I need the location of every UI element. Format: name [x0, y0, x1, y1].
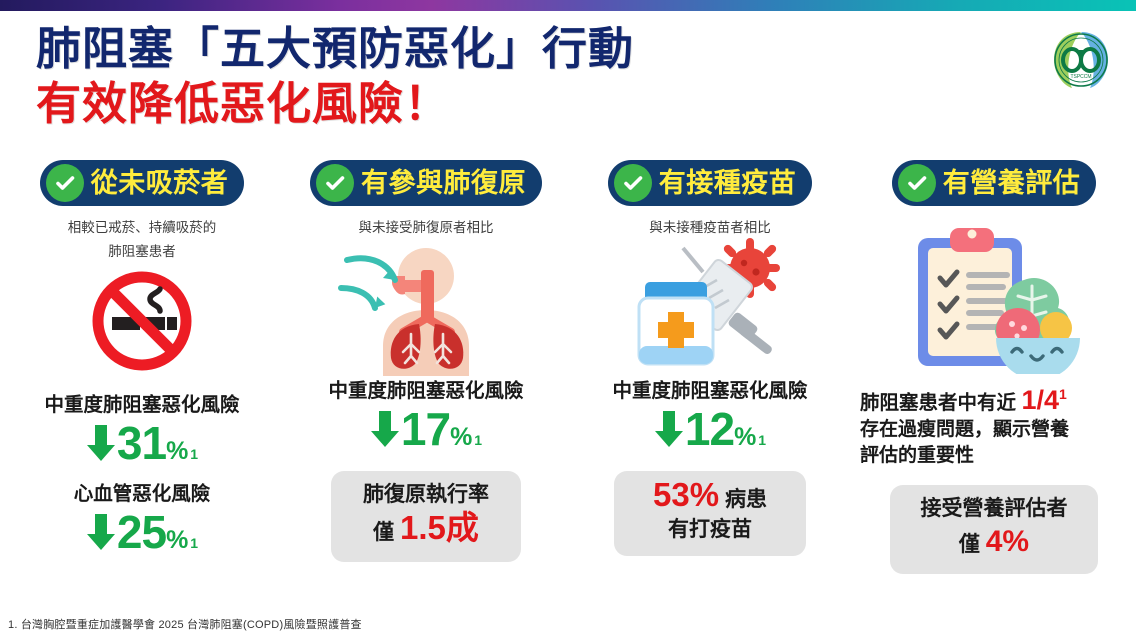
pill-never-smoker[interactable]: 從未吸菸者 — [40, 160, 245, 206]
stat-number: 17 — [401, 405, 450, 453]
callout-line-2: 僅 1.5成 — [343, 510, 509, 551]
columns-container: 從未吸菸者 相較已戒菸、持續吸菸的 肺阻塞患者 中重度肺阻塞惡化風險 31 — [0, 160, 1136, 600]
footnote: 1. 台灣胸腔暨重症加護醫學會 2025 台灣肺阻塞(COPD)風險暨照護普查 — [8, 616, 362, 632]
text-stat-prefix: 肺阻塞患者中有近 — [860, 392, 1016, 414]
page-title: 肺阻塞「五大預防惡化」行動 有效降低惡化風險！ — [36, 24, 634, 130]
stat-copd-exacerbation: 中重度肺阻塞惡化風險 17 % 1 — [284, 378, 568, 453]
down-arrow-icon — [370, 409, 400, 449]
stat-copd-exacerbation: 中重度肺阻塞惡化風險 31 % 1 — [0, 392, 284, 467]
stat-superscript: 1 — [758, 433, 766, 447]
stat-superscript: 1 — [190, 536, 198, 550]
callout-highlight: 53% — [653, 476, 719, 513]
stat-number: 12 — [685, 405, 734, 453]
callout-line-2: 有打疫苗 — [626, 515, 794, 545]
stat-value-row: 25 % 1 — [0, 508, 284, 556]
check-icon — [46, 164, 84, 202]
pill-pulmonary-rehab[interactable]: 有參與肺復原 — [310, 160, 542, 206]
stat-unit: % — [450, 422, 472, 452]
callout-highlight: 4% — [986, 525, 1029, 558]
top-gradient-bar — [0, 0, 1136, 11]
stat-underweight-text: 肺阻塞患者中有近 1/41 存在過瘦問題，顯示營養 評估的重要性 — [852, 380, 1136, 469]
callout-vaccination-rate: 53% 病患 有打疫苗 — [614, 471, 806, 556]
stat-label: 心血管惡化風險 — [0, 481, 284, 507]
stat-superscript: 1 — [190, 447, 198, 461]
callout-line-1: 肺復原執行率 — [343, 480, 509, 510]
breathing-lungs-icon — [284, 236, 568, 376]
down-arrow-icon — [654, 409, 684, 449]
stat-label: 中重度肺阻塞惡化風險 — [568, 378, 852, 404]
callout-highlight: 1.5成 — [400, 509, 479, 546]
pill-nutrition-assessment[interactable]: 有營養評估 — [892, 160, 1097, 206]
nutrition-checklist-icon — [852, 218, 1136, 380]
callout-line-1: 接受營養評估者 — [902, 494, 1086, 524]
stat-number: 25 — [117, 508, 166, 556]
pill-label: 有參與肺復原 — [361, 168, 526, 198]
text-stat-highlight: 1/41 — [1021, 385, 1066, 415]
check-icon — [614, 164, 652, 202]
stat-copd-exacerbation: 中重度肺阻塞惡化風險 12 % 1 — [568, 378, 852, 453]
taiwan-society-pulmonary-critical-care-logo: TSPCCM — [1044, 26, 1118, 96]
callout-rehab-rate: 肺復原執行率 僅 1.5成 — [331, 471, 521, 562]
check-icon — [898, 164, 936, 202]
text-stat-line-3: 評估的重要性 — [860, 443, 1132, 469]
stat-number: 31 — [117, 419, 166, 467]
callout-nutrition-rate: 接受營養評估者 僅 4% — [890, 485, 1098, 574]
stat-cardiovascular-risk: 心血管惡化風險 25 % 1 — [0, 481, 284, 556]
column-never-smoker: 從未吸菸者 相較已戒菸、持續吸菸的 肺阻塞患者 中重度肺阻塞惡化風險 31 — [0, 160, 284, 600]
column-nutrition-assessment: 有營養評估 — [852, 160, 1136, 600]
callout-suffix: 病患 — [725, 488, 767, 511]
check-icon — [316, 164, 354, 202]
callout-prefix: 僅 — [373, 521, 394, 544]
pill-label: 有接種疫苗 — [659, 168, 797, 198]
subnote-line-2: 肺阻塞患者 — [0, 240, 284, 264]
callout-line-1: 53% 病患 — [626, 480, 794, 515]
text-stat-line-1: 肺阻塞患者中有近 1/41 — [860, 380, 1132, 417]
pill-label: 從未吸菸者 — [91, 168, 229, 198]
stat-label: 中重度肺阻塞惡化風險 — [0, 392, 284, 418]
column-vaccination: 有接種疫苗 與未接種疫苗者相比 — [568, 160, 852, 600]
stat-superscript: 1 — [474, 433, 482, 447]
column-pulmonary-rehab: 有參與肺復原 與未接受肺復原者相比 — [284, 160, 568, 600]
subnote-never-smoker: 相較已戒菸、持續吸菸的 肺阻塞患者 — [0, 216, 284, 264]
stat-value-row: 17 % 1 — [284, 405, 568, 453]
title-line-2: 有效降低惡化風險！ — [36, 78, 634, 130]
down-arrow-icon — [86, 423, 116, 463]
callout-prefix: 僅 — [959, 533, 980, 556]
stat-unit: % — [166, 525, 188, 555]
stat-value-row: 31 % 1 — [0, 419, 284, 467]
title-line-1: 肺阻塞「五大預防惡化」行動 — [36, 24, 634, 74]
stat-unit: % — [166, 436, 188, 466]
pill-vaccination[interactable]: 有接種疫苗 — [608, 160, 813, 206]
svg-text:TSPCCM: TSPCCM — [1070, 74, 1091, 80]
down-arrow-icon — [86, 512, 116, 552]
pill-label: 有營養評估 — [943, 168, 1081, 198]
text-stat-line-2: 存在過瘦問題，顯示營養 — [860, 417, 1132, 443]
vaccine-syringe-icon — [568, 236, 852, 376]
subnote-line-1: 相較已戒菸、持續吸菸的 — [0, 216, 284, 240]
stat-value-row: 12 % 1 — [568, 405, 852, 453]
stat-unit: % — [734, 422, 756, 452]
no-smoking-icon — [0, 266, 284, 376]
callout-line-2: 僅 4% — [902, 524, 1086, 563]
stat-label: 中重度肺阻塞惡化風險 — [284, 378, 568, 404]
